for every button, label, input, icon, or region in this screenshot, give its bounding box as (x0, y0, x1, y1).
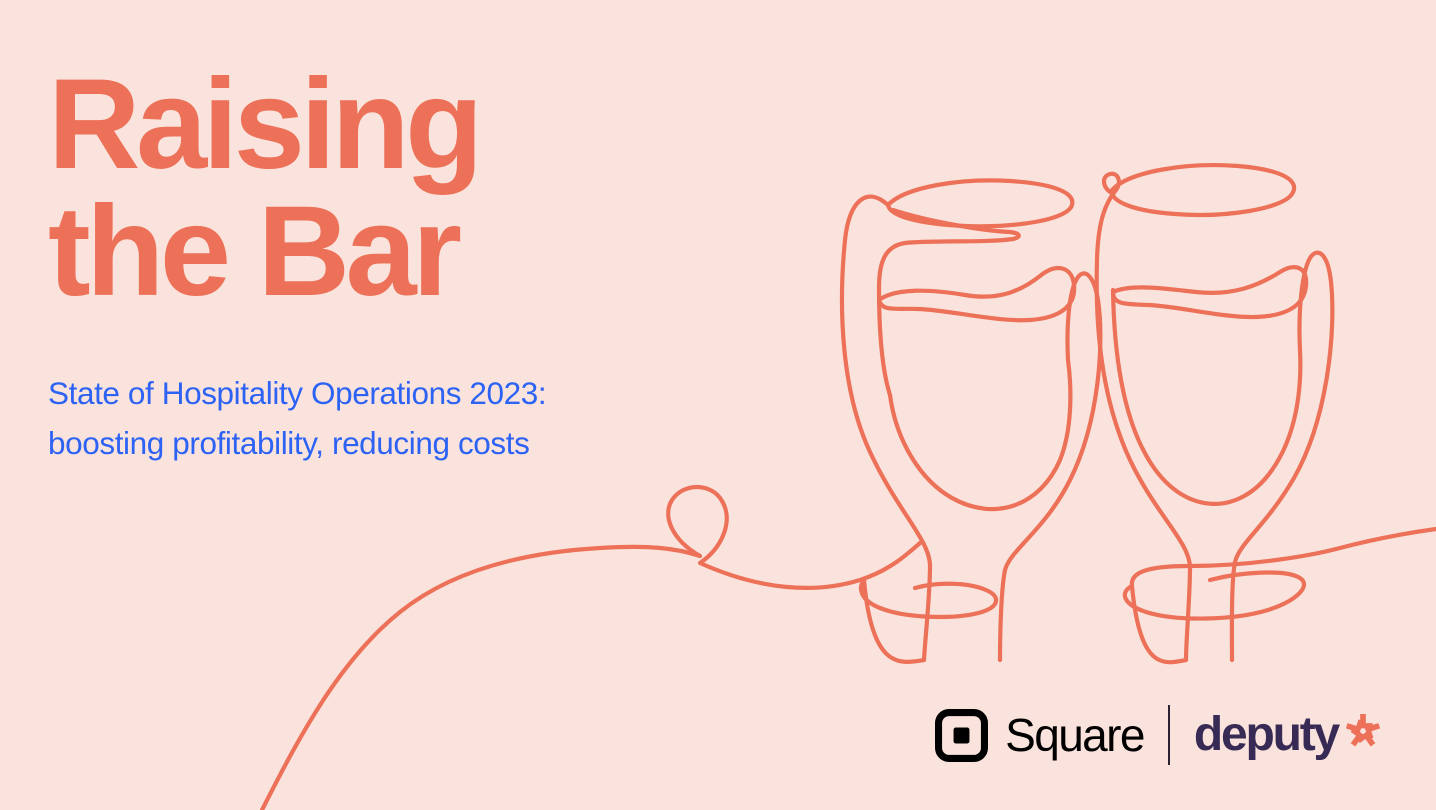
left-glass-rim (888, 180, 1072, 226)
right-glass-foot (1132, 529, 1436, 662)
flowing-ribbon-path (262, 487, 920, 810)
left-glass-outer-bowl (842, 197, 930, 660)
logo-divider (1168, 705, 1170, 765)
cover-page: Raising the Bar State of Hospitality Ope… (0, 0, 1436, 810)
left-glass-rim-inner (879, 210, 1019, 395)
square-wordmark: Square (1005, 712, 1144, 758)
left-glass-right-edge (1000, 273, 1100, 660)
right-glass-wine-line (1113, 267, 1306, 317)
right-glass-inner-bowl (1113, 290, 1300, 504)
right-glass-rim (1112, 165, 1294, 215)
square-logo[interactable]: Square (935, 709, 1144, 762)
page-subtitle: State of Hospitality Operations 2023: bo… (48, 369, 688, 469)
deputy-pinwheel-mark (1342, 710, 1384, 752)
deputy-wordmark: deputy (1194, 711, 1338, 759)
page-title: Raising the Bar (48, 62, 688, 315)
right-glass-right-edge (1232, 253, 1332, 660)
left-glass-foot (861, 580, 996, 662)
right-glass-left-edge (1097, 174, 1190, 660)
headline-block: Raising the Bar State of Hospitality Ope… (48, 62, 688, 469)
logo-lockup: Square deputy (935, 705, 1384, 765)
right-glass-foot-lower (1125, 572, 1304, 618)
left-glass-wine-line (879, 268, 1074, 320)
deputy-logo[interactable]: deputy (1194, 710, 1384, 760)
square-logo-mark (935, 709, 988, 762)
left-glass-inner-bowl (890, 360, 1070, 509)
